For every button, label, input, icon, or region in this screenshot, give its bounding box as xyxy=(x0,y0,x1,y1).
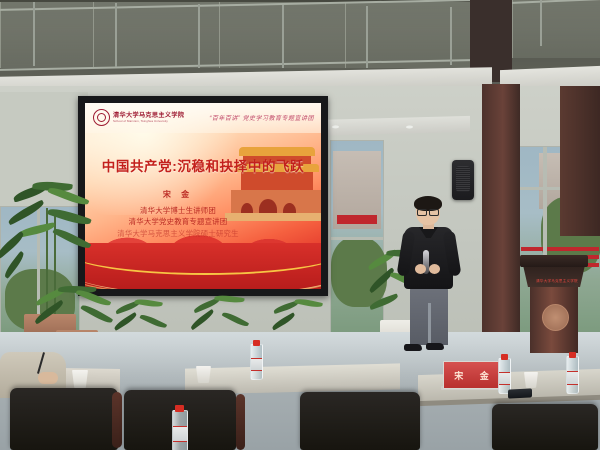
person-hand-right xyxy=(429,264,440,274)
slide-affiliation-1: 清华大学博士生讲师团 xyxy=(103,205,253,217)
water-bottle-foreground xyxy=(172,410,188,450)
paper-cup-center xyxy=(196,366,211,383)
person-shoe-left xyxy=(404,344,422,351)
podium-body xyxy=(530,286,578,353)
person-shoe-right xyxy=(426,343,444,350)
slide-banner-text: “百年百讲” 党史学习教育专题宣讲团 xyxy=(209,113,314,122)
chair-frame-right xyxy=(236,394,245,450)
podium-top xyxy=(520,255,588,267)
seated-attendee-hand xyxy=(38,372,58,384)
water-bottle-table-2 xyxy=(566,356,579,394)
tsinghua-seal-icon xyxy=(93,109,110,126)
wood-pier-left xyxy=(482,84,520,342)
podium-text: 清华大学马克思主义学院 xyxy=(529,279,585,284)
name-placard: 宋 金 xyxy=(443,361,500,389)
logo-english-name: School of Marxism, Tsinghua University xyxy=(113,119,184,123)
slide-speaker-block: 宋 金 清华大学博士生讲师团 清华大学党史教育专题宣讲团 清华大学马克思主义学院… xyxy=(103,189,253,239)
chair-frame-left xyxy=(112,392,122,448)
slide-title: 中国共产党:沉稳和抉择中的飞跃 xyxy=(85,155,321,175)
logo-chinese-name: 清华大学马克思主义学院 xyxy=(113,112,184,119)
chair-front-left xyxy=(10,388,118,450)
speaker-person xyxy=(398,198,460,360)
chair-back-right-table xyxy=(492,404,598,450)
slide-affiliation-3: 清华大学马克思主义学院硕士研究生 xyxy=(103,228,253,240)
slide-affiliation-2: 清华大学党史教育专题宣讲团 xyxy=(103,216,253,228)
lecture-hall-photo: 清华大学马克思主义学院 School of Marxism, Tsinghua … xyxy=(0,0,600,450)
paper-cup-left xyxy=(72,370,88,388)
water-bottle-center xyxy=(250,344,263,380)
university-emblem-icon xyxy=(542,304,569,331)
slide-speaker-name: 宋 金 xyxy=(103,189,253,201)
eyeglasses-icon xyxy=(417,209,439,214)
podium: 清华大学马克思主义学院 xyxy=(520,255,588,353)
podium-desk: 清华大学马克思主义学院 xyxy=(523,265,585,287)
wood-pier-right xyxy=(560,86,600,236)
wall-mounted-speaker-icon xyxy=(452,160,474,200)
projection-screen: 清华大学马克思主义学院 School of Marxism, Tsinghua … xyxy=(78,96,328,296)
chair-front-right xyxy=(300,392,420,450)
tsinghua-marxism-logo: 清华大学马克思主义学院 School of Marxism, Tsinghua … xyxy=(93,109,184,126)
person-hand-left xyxy=(415,264,426,274)
paper-cup-table xyxy=(524,372,538,388)
slide-bottom-band xyxy=(85,243,321,289)
presentation-slide: 清华大学马克思主义学院 School of Marxism, Tsinghua … xyxy=(85,103,321,289)
person-leg-gap xyxy=(428,303,431,345)
name-placard-text: 宋 金 xyxy=(447,369,496,382)
mobile-phone xyxy=(508,388,532,398)
